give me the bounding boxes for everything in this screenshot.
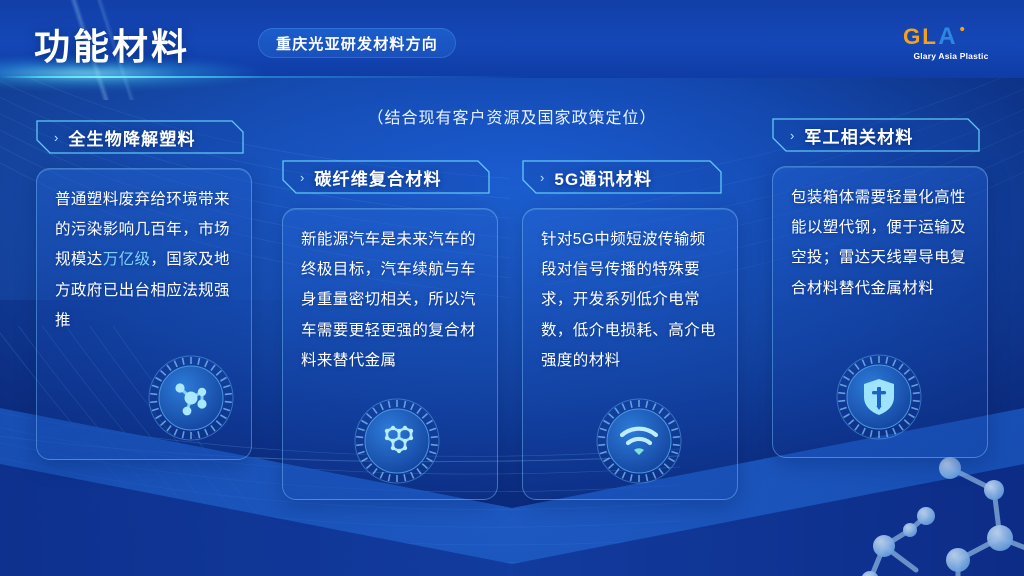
chevron-right-icon: › bbox=[54, 131, 58, 144]
chevron-right-icon: › bbox=[790, 129, 794, 142]
card-icon-2 bbox=[354, 398, 440, 484]
card-title-2: 碳纤维复合材料 bbox=[314, 165, 441, 190]
card-icon-4 bbox=[836, 354, 922, 440]
header-subtitle-pill: 重庆光亚研发材料方向 bbox=[258, 28, 456, 58]
card-text-3: 针对5G中频短波传输频段对信号传播的特殊要求，开发系列低介电常数，低介电损耗、高… bbox=[541, 225, 721, 376]
chevron-right-icon: › bbox=[540, 171, 544, 184]
card-5g-communication-material[interactable]: › 5G通讯材料 针对5G中频短波传输频段对信号传播的特殊要求，开发系列低介电常… bbox=[522, 160, 738, 500]
svg-text:A: A bbox=[938, 24, 955, 50]
shield-sword-icon bbox=[836, 354, 922, 440]
slide-canvas: 功能材料 重庆光亚研发材料方向 G L A Glary Asia Plastic… bbox=[0, 0, 1024, 576]
card-icon-1 bbox=[148, 355, 234, 441]
card-text-1: 普通塑料废弃给环境带来的污染影响几百年，市场规模达万亿级，国家及地方政府已出台相… bbox=[55, 185, 235, 336]
card-title-4: 军工相关材料 bbox=[804, 123, 913, 148]
header-subtitle-text: 重庆光亚研发材料方向 bbox=[276, 33, 438, 54]
card-military-material[interactable]: › 军工相关材料 包装箱体需要轻量化高性能以塑代钢，便于运输及空投；雷达天线罩导… bbox=[772, 118, 988, 458]
company-logo: G L A Glary Asia Plastic bbox=[900, 20, 1002, 64]
svg-text:L: L bbox=[922, 24, 936, 49]
card-text-4: 包装箱体需要轻量化高性能以塑代钢，便于运输及空投；雷达天线罩导电复合材料替代金属… bbox=[791, 183, 971, 304]
tag-inner-2: › 碳纤维复合材料 bbox=[282, 160, 442, 194]
card-title-1: 全生物降解塑料 bbox=[68, 125, 195, 150]
chevron-right-icon: › bbox=[300, 171, 304, 184]
wifi-icon bbox=[596, 398, 682, 484]
card-tag-1[interactable]: › 全生物降解塑料 bbox=[36, 120, 244, 154]
svg-text:G: G bbox=[903, 24, 920, 49]
card-tag-4[interactable]: › 军工相关材料 bbox=[772, 118, 980, 152]
logo-subtitle: Glary Asia Plastic bbox=[913, 51, 988, 61]
tag-inner-1: › 全生物降解塑料 bbox=[36, 120, 196, 154]
card-text-1-highlight: 万亿级 bbox=[103, 251, 151, 268]
page-title: 功能材料 bbox=[34, 18, 190, 70]
card-title-3: 5G通讯材料 bbox=[554, 165, 652, 190]
tag-inner-3: › 5G通讯材料 bbox=[522, 160, 652, 194]
card-tag-2[interactable]: › 碳纤维复合材料 bbox=[282, 160, 490, 194]
card-carbon-fiber-composite[interactable]: › 碳纤维复合材料 新能源汽车是未来汽车的终极目标，汽车续航与车身重量密切相关，… bbox=[282, 160, 498, 500]
card-biodegradable-plastic[interactable]: › 全生物降解塑料 普通塑料废弃给环境带来的污染影响几百年，市场规模达万亿级，国… bbox=[36, 120, 252, 460]
card-icon-3 bbox=[596, 398, 682, 484]
card-tag-3[interactable]: › 5G通讯材料 bbox=[522, 160, 722, 194]
card-text-2: 新能源汽车是未来汽车的终极目标，汽车续航与车身重量密切相关，所以汽车需要更轻更强… bbox=[301, 225, 481, 376]
tag-inner-4: › 军工相关材料 bbox=[772, 118, 914, 152]
molecule-icon bbox=[148, 355, 234, 441]
graphene-icon bbox=[354, 398, 440, 484]
gla-logo-icon: G L A bbox=[903, 24, 999, 50]
